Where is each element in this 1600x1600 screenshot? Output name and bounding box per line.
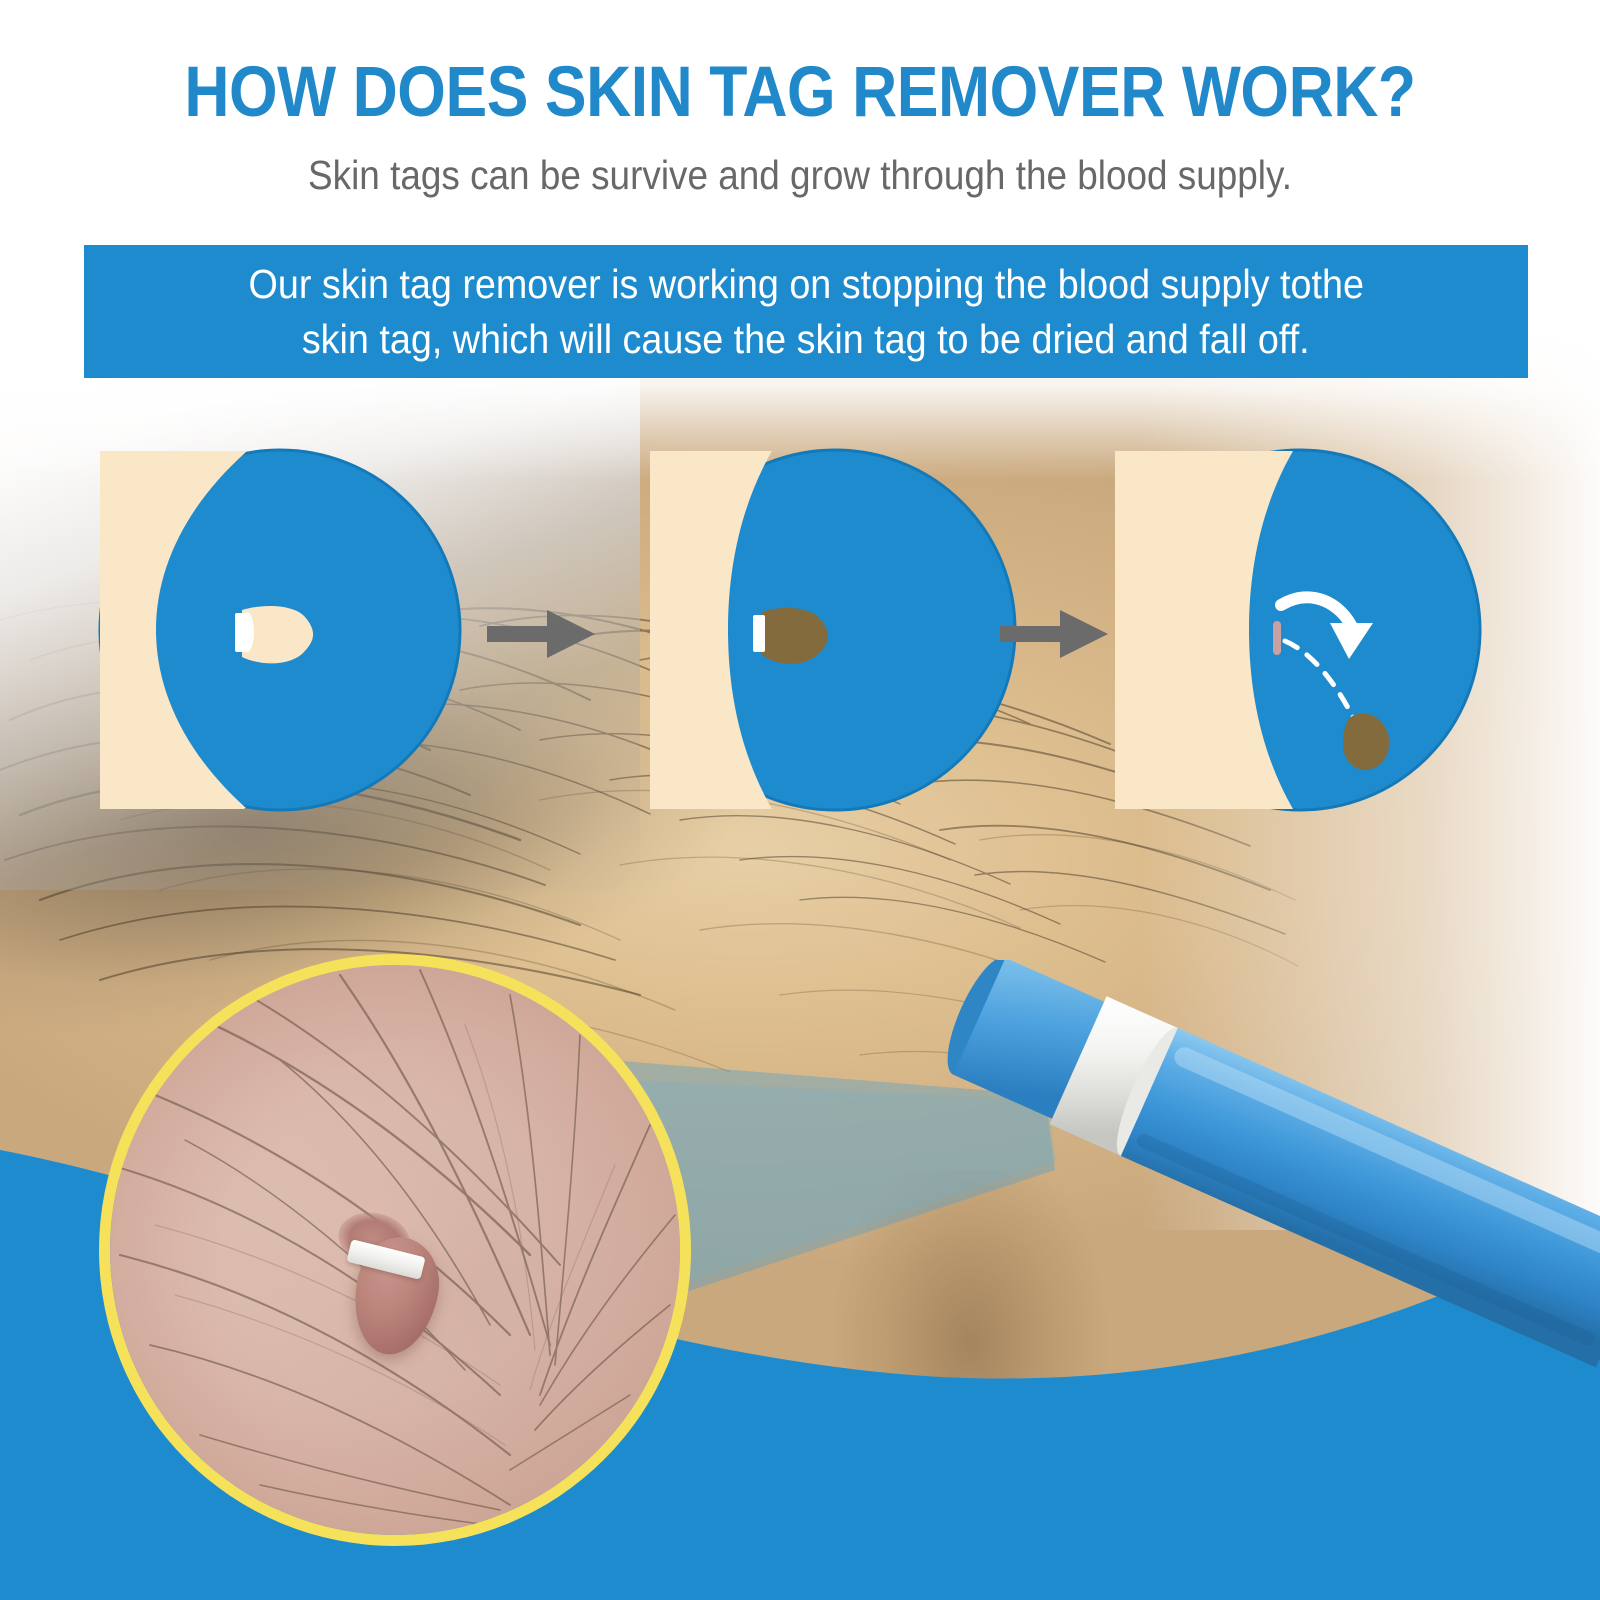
step-2-circle <box>650 445 1020 815</box>
step-1-circle <box>95 445 465 815</box>
banner-line-2: skin tag, which will cause the skin tag … <box>302 312 1310 367</box>
step-3-circle <box>1115 445 1485 815</box>
magnified-skin-tag <box>110 965 680 1535</box>
arrow-step1-to-step2 <box>487 608 597 660</box>
arrow-step2-to-step3 <box>1000 608 1110 660</box>
banner-line-1: Our skin tag remover is working on stopp… <box>248 257 1363 312</box>
skin-tag-remover-device[interactable] <box>900 960 1600 1480</box>
infographic-canvas: HOW DOES SKIN TAG REMOVER WORK? Skin tag… <box>0 0 1600 1600</box>
page-subtitle: Skin tags can be survive and grow throug… <box>80 152 1520 199</box>
description-banner: Our skin tag remover is working on stopp… <box>84 245 1528 378</box>
page-title: HOW DOES SKIN TAG REMOVER WORK? <box>96 52 1504 133</box>
